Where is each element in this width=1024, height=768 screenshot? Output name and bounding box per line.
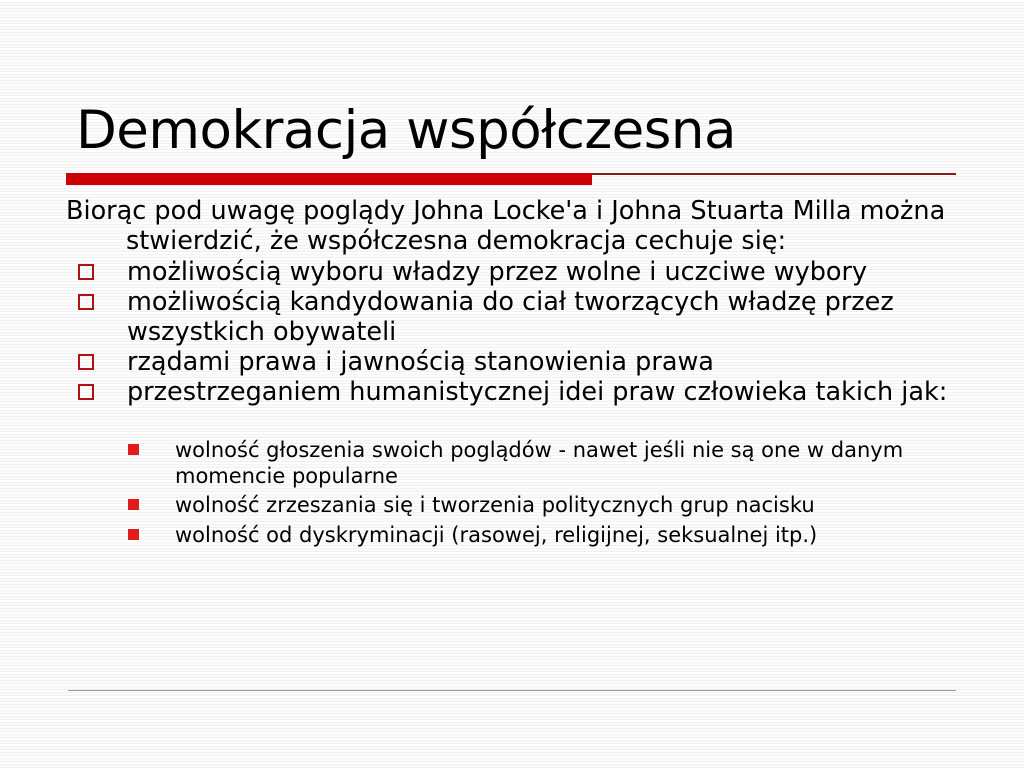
bullet-text: możliwością wyboru władzy przez wolne i … (127, 257, 867, 287)
bullet-text: możliwością kandydowania do ciał tworząc… (127, 287, 894, 347)
intro-paragraph: Biorąc pod uwagę poglądy Johna Locke'a i… (66, 196, 966, 256)
title-block: Demokracja współczesna (76, 100, 976, 162)
hollow-square-bullet-icon (78, 294, 94, 310)
sub-bullet-text: wolność głoszenia swoich poglądów - nawe… (175, 438, 903, 488)
slide-title: Demokracja współczesna (76, 100, 976, 162)
sub-bullet-text: wolność od dyskryminacji (rasowej, relig… (175, 523, 817, 547)
hollow-square-bullet-icon (78, 354, 94, 370)
sub-bullet-item: wolność głoszenia swoich poglądów - nawe… (113, 438, 966, 489)
hollow-square-bullet-icon (78, 384, 94, 400)
sub-bullet-text: wolność zrzeszania się i tworzenia polit… (175, 493, 815, 517)
main-bullet-list: możliwością wyboru władzy przez wolne i … (66, 257, 966, 407)
bullet-item: możliwością wyboru władzy przez wolne i … (66, 257, 966, 287)
sub-bullet-item: wolność zrzeszania się i tworzenia polit… (113, 493, 966, 519)
sub-bullet-list: wolność głoszenia swoich poglądów - nawe… (66, 438, 966, 548)
title-divider (66, 173, 956, 185)
footer-divider-rule (68, 690, 956, 691)
slide-body: Biorąc pod uwagę poglądy Johna Locke'a i… (66, 196, 966, 548)
bullet-item: przestrzeganiem humanistycznej idei praw… (66, 377, 966, 407)
presentation-slide: Demokracja współczesna Biorąc pod uwagę … (0, 0, 1024, 768)
divider-thick-bar (66, 173, 592, 185)
filled-square-bullet-icon (128, 499, 139, 510)
hollow-square-bullet-icon (78, 264, 94, 280)
sub-bullet-item: wolność od dyskryminacji (rasowej, relig… (113, 523, 966, 549)
bullet-text: rządami prawa i jawnością stanowienia pr… (127, 347, 714, 377)
bullet-item: rządami prawa i jawnością stanowienia pr… (66, 347, 966, 377)
bullet-text: przestrzeganiem humanistycznej idei praw… (127, 377, 947, 407)
filled-square-bullet-icon (128, 529, 139, 540)
bullet-item: możliwością kandydowania do ciał tworząc… (66, 287, 966, 347)
filled-square-bullet-icon (128, 444, 139, 455)
